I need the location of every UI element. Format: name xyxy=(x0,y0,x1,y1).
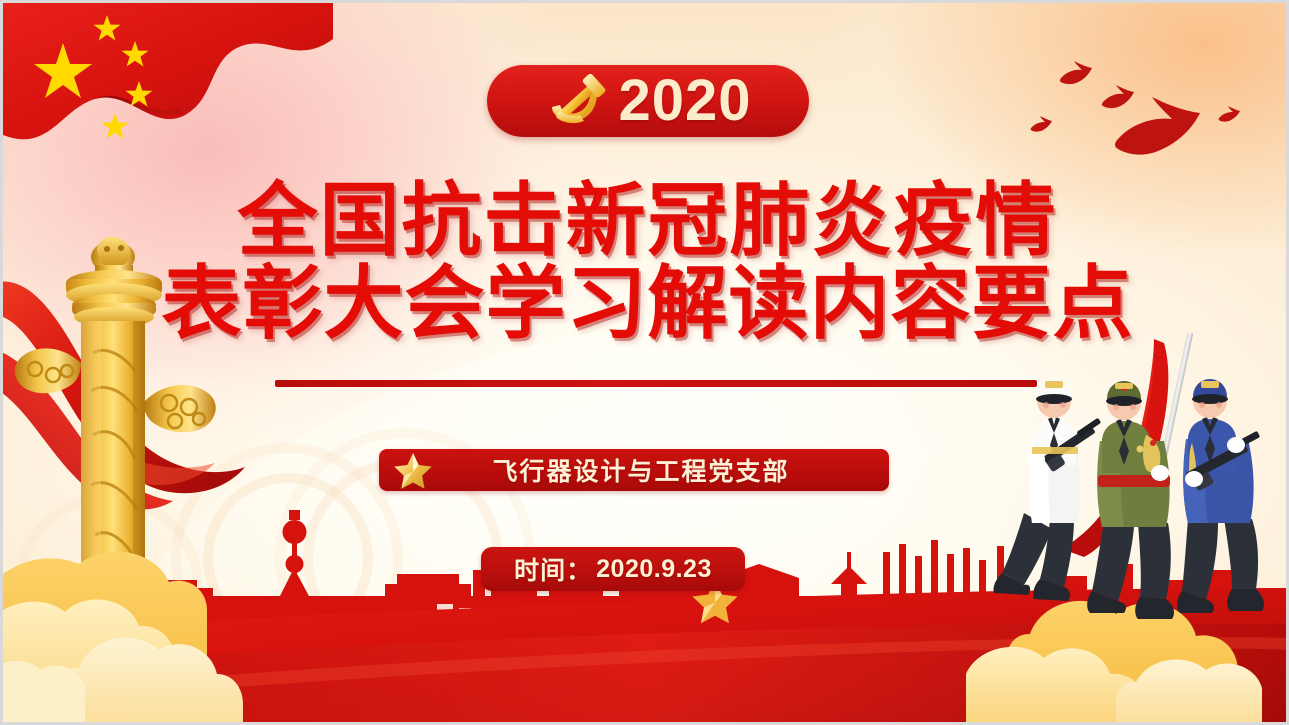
honor-guard-navy xyxy=(993,379,1101,601)
title-line-2: 表彰大会学习解读内容要点 xyxy=(3,262,1289,345)
cpc-hammer-sickle-emblem xyxy=(544,71,610,129)
airforce-glove-upper xyxy=(1227,437,1245,453)
three-service-honor-guard xyxy=(988,333,1288,633)
dove-small xyxy=(1060,61,1092,84)
gold-star-icon xyxy=(393,451,433,489)
title-line-1: 全国抗击新冠肺炎疫情 xyxy=(3,179,1289,262)
golden-auspicious-clouds xyxy=(0,540,463,725)
date-label: 时间： xyxy=(514,551,592,587)
title-divider xyxy=(275,380,1037,387)
dove-small xyxy=(1219,106,1240,122)
pillar-cloud-wing-left xyxy=(15,348,81,393)
year-label: 2020 xyxy=(618,72,751,130)
year-badge[interactable]: 2020 xyxy=(487,65,809,137)
honor-guard-airforce xyxy=(1177,379,1264,613)
dove-large xyxy=(1115,97,1200,155)
dove-small xyxy=(1031,116,1052,132)
page-title: 全国抗击新冠肺炎疫情 表彰大会学习解读内容要点 xyxy=(3,179,1289,345)
date-value: 2020.9.23 xyxy=(596,555,712,584)
date-badge[interactable]: 时间： 2020.9.23 xyxy=(481,547,745,591)
flag-star-small xyxy=(102,113,129,139)
pillar-cloud-wing-right xyxy=(144,385,216,432)
organization-banner[interactable]: 飞行器设计与工程党支部 xyxy=(379,449,889,491)
airforce-glove-lower xyxy=(1185,471,1203,487)
army-glove xyxy=(1151,465,1169,481)
organization-name: 飞行器设计与工程党支部 xyxy=(433,452,849,488)
presentation-slide: 2020 全国抗击新冠肺炎疫情 表彰大会学习解读内容要点 飞行 xyxy=(0,0,1289,725)
dove-small xyxy=(1102,85,1134,108)
